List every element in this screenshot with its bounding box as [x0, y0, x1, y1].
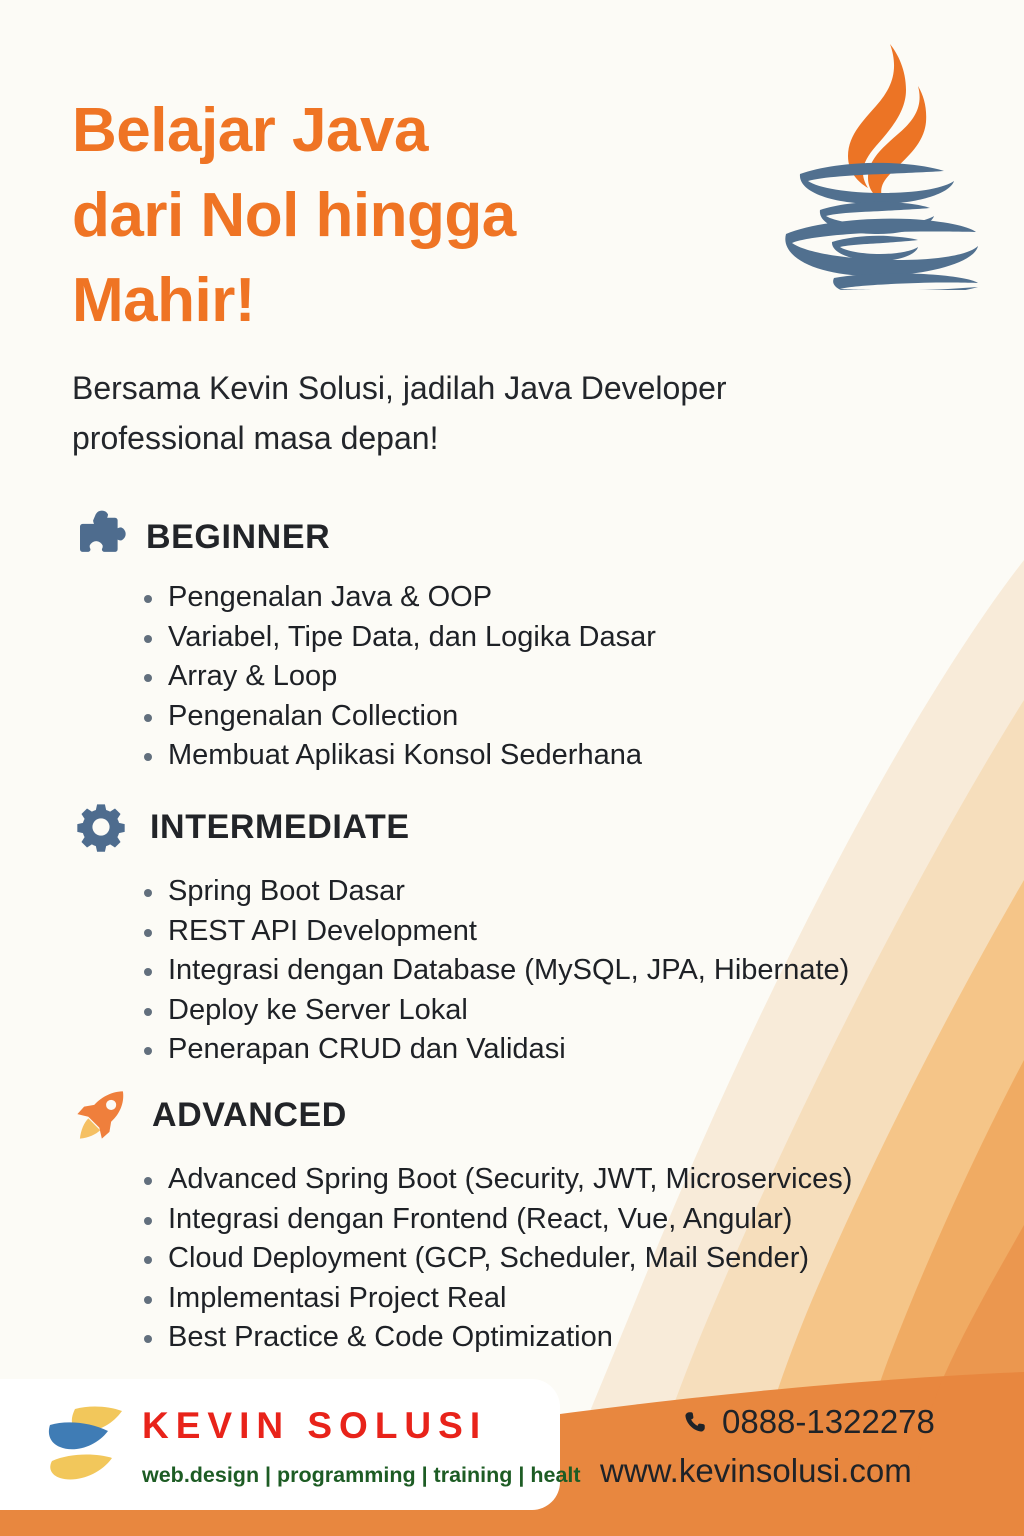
list-item: Membuat Aplikasi Konsol Sederhana	[138, 736, 972, 776]
list-item: Implementasi Project Real	[138, 1279, 972, 1319]
kevin-solusi-swoosh-icon	[46, 1403, 128, 1489]
poster-root: Belajar Java dari Nol hingga Mahir! Bers…	[0, 0, 1024, 1536]
contact-phone-row: 0888-1322278	[682, 1400, 1020, 1444]
phone-icon	[682, 1409, 708, 1435]
contact-website[interactable]: www.kevinsolusi.com	[600, 1452, 1020, 1490]
page-subtitle: Bersama Kevin Solusi, jadilah Java Devel…	[72, 363, 872, 463]
section-intermediate-header: INTERMEDIATE	[72, 798, 972, 856]
list-item: Penerapan CRUD dan Validasi	[138, 1030, 972, 1070]
section-beginner-title: BEGINNER	[146, 518, 330, 557]
section-intermediate-list: Spring Boot Dasar REST API Development I…	[138, 872, 972, 1070]
brand-tagline: web.design | programming | training | he…	[142, 1463, 581, 1488]
brand-name: KEVIN SOLUSI	[142, 1405, 487, 1447]
section-beginner: BEGINNER Pengenalan Java & OOP Variabel,…	[72, 508, 972, 776]
contact-info: 0888-1322278 www.kevinsolusi.com	[600, 1400, 1020, 1490]
list-item: Spring Boot Dasar	[138, 872, 972, 912]
list-item: REST API Development	[138, 912, 972, 952]
subtitle-line-2: professional masa depan!	[72, 413, 872, 463]
list-item: Advanced Spring Boot (Security, JWT, Mic…	[138, 1160, 972, 1200]
headline-line-1: Belajar Java	[72, 88, 712, 173]
list-item: Best Practice & Code Optimization	[138, 1318, 972, 1358]
list-item: Variabel, Tipe Data, dan Logika Dasar	[138, 618, 972, 658]
section-intermediate-title: INTERMEDIATE	[150, 808, 410, 847]
subtitle-line-1: Bersama Kevin Solusi, jadilah Java Devel…	[72, 363, 872, 413]
list-item: Pengenalan Java & OOP	[138, 578, 972, 618]
section-advanced-header: ADVANCED	[72, 1086, 972, 1144]
java-coffee-cup-icon	[778, 38, 978, 290]
page-title: Belajar Java dari Nol hingga Mahir!	[72, 88, 712, 343]
section-advanced-title: ADVANCED	[152, 1096, 347, 1135]
list-item: Array & Loop	[138, 657, 972, 697]
list-item: Cloud Deployment (GCP, Scheduler, Mail S…	[138, 1239, 972, 1279]
section-beginner-header: BEGINNER	[72, 508, 972, 566]
rocket-icon	[72, 1086, 130, 1144]
headline-line-2: dari Nol hingga	[72, 173, 712, 258]
contact-phone-number[interactable]: 0888-1322278	[722, 1403, 935, 1441]
headline-line-3: Mahir!	[72, 258, 712, 343]
section-advanced-list: Advanced Spring Boot (Security, JWT, Mic…	[138, 1160, 972, 1358]
section-advanced: ADVANCED Advanced Spring Boot (Security,…	[72, 1086, 972, 1358]
list-item: Deploy ke Server Lokal	[138, 991, 972, 1031]
list-item: Pengenalan Collection	[138, 697, 972, 737]
gear-icon	[72, 798, 130, 856]
puzzle-piece-icon	[72, 508, 130, 566]
list-item: Integrasi dengan Database (MySQL, JPA, H…	[138, 951, 972, 991]
brand-logo-card: KEVIN SOLUSI web.design | programming | …	[0, 1379, 560, 1510]
section-intermediate: INTERMEDIATE Spring Boot Dasar REST API …	[72, 798, 972, 1070]
section-beginner-list: Pengenalan Java & OOP Variabel, Tipe Dat…	[138, 578, 972, 776]
list-item: Integrasi dengan Frontend (React, Vue, A…	[138, 1200, 972, 1240]
